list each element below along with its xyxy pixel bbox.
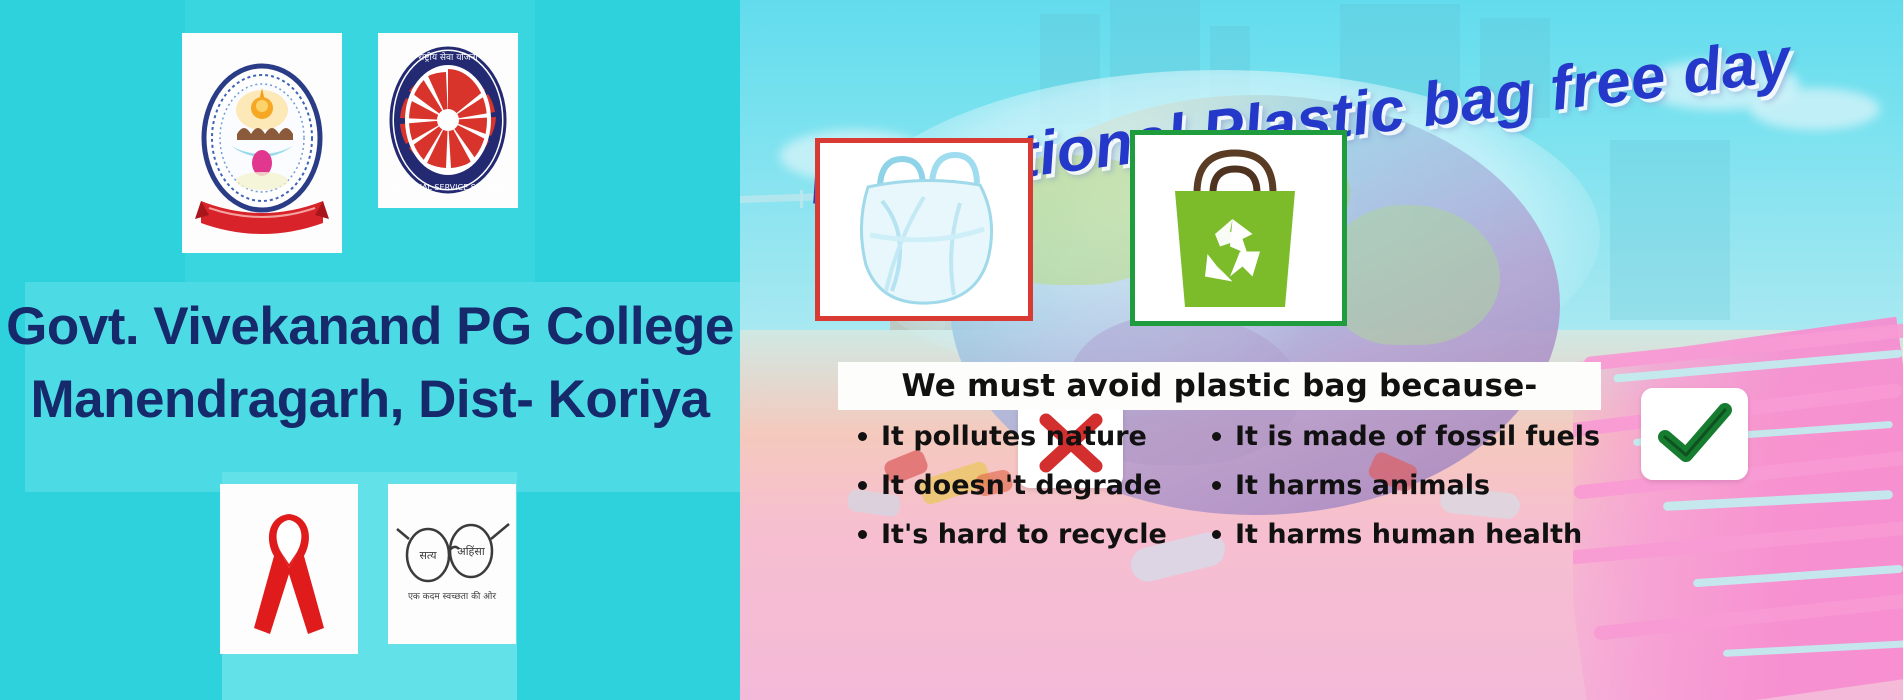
bullet-dot-icon xyxy=(858,481,867,490)
college-name-line1: Govt. Vivekanand PG College xyxy=(6,297,734,356)
reusable-bag-allowed-card xyxy=(1130,130,1347,326)
list-item-label: It doesn't degrade xyxy=(881,470,1162,501)
svg-text:राष्ट्रीय सेवा योजना: राष्ट्रीय सेवा योजना xyxy=(418,51,478,63)
top-logo-row: राष्ट्रीय सेवा योजना NATIONAL SERVICE SC… xyxy=(182,33,518,253)
list-item-label: It harms animals xyxy=(1235,470,1490,501)
plastic-bag-not-allowed-card xyxy=(815,138,1033,321)
list-item: It is made of fossil fuels xyxy=(1212,412,1750,461)
city-building-8 xyxy=(1610,140,1730,320)
spectacles-logo: सत्य अहिंसा एक कदम स्वच्छता की ओर xyxy=(388,484,516,644)
bullet-dot-icon xyxy=(1212,481,1221,490)
list-item-label: It's hard to recycle xyxy=(881,519,1167,550)
svg-text:सत्य: सत्य xyxy=(419,549,437,562)
globe-landmass-3 xyxy=(1330,205,1500,345)
reasons-list: It pollutes nature It doesn't degrade It… xyxy=(850,412,1750,559)
bullet-dot-icon xyxy=(858,530,867,539)
college-name: Govt. Vivekanand PG College Manendragarh… xyxy=(0,290,740,436)
nss-logo: राष्ट्रीय सेवा योजना NATIONAL SERVICE SC… xyxy=(378,33,518,208)
bullet-dot-icon xyxy=(858,432,867,441)
plastic-bag-free-day-poster: International Plastic bag free day xyxy=(740,0,1903,700)
college-emblem-logo xyxy=(182,33,342,253)
red-ribbon-club-logo xyxy=(220,484,358,654)
list-item-label: It pollutes nature xyxy=(881,421,1147,452)
bullet-dot-icon xyxy=(1212,530,1221,539)
list-item-label: It is made of fossil fuels xyxy=(1235,421,1600,452)
svg-text:एक कदम स्वच्छता की ओर: एक कदम स्वच्छता की ओर xyxy=(407,590,495,602)
bottom-logo-row: सत्य अहिंसा एक कदम स्वच्छता की ओर xyxy=(220,484,516,654)
spectacles-icon: सत्य अहिंसा एक कदम स्वच्छता की ओर xyxy=(395,489,510,639)
banner-headline-text: We must avoid plastic bag because- xyxy=(902,368,1538,404)
left-identity-panel: राष्ट्रीय सेवा योजना NATIONAL SERVICE SC… xyxy=(0,0,740,700)
reusable-bag-icon xyxy=(1135,135,1335,317)
red-ribbon-icon xyxy=(234,494,344,644)
banner-headline: We must avoid plastic bag because- xyxy=(838,362,1601,410)
list-item: It's hard to recycle xyxy=(850,510,1212,559)
plastic-bag-icon xyxy=(820,143,1020,313)
list-item: It pollutes nature xyxy=(850,412,1212,461)
reasons-right-column: It is made of fossil fuels It harms anim… xyxy=(1212,412,1750,559)
list-item: It harms animals xyxy=(1212,461,1750,510)
college-name-line2: Manendragarh, Dist- Koriya xyxy=(0,363,740,436)
college-emblem-icon xyxy=(187,38,337,248)
reasons-left-column: It pollutes nature It doesn't degrade It… xyxy=(850,412,1212,559)
bullet-dot-icon xyxy=(1212,432,1221,441)
list-item-label: It harms human health xyxy=(1235,519,1582,550)
list-item: It harms human health xyxy=(1212,510,1750,559)
banner-image: राष्ट्रीय सेवा योजना NATIONAL SERVICE SC… xyxy=(0,0,1903,700)
svg-text:अहिंसा: अहिंसा xyxy=(457,545,485,558)
svg-text:NATIONAL SERVICE SCHEME: NATIONAL SERVICE SCHEME xyxy=(392,183,505,192)
list-item: It doesn't degrade xyxy=(850,461,1212,510)
nss-emblem-icon: राष्ट्रीय सेवा योजना NATIONAL SERVICE SC… xyxy=(383,38,513,203)
